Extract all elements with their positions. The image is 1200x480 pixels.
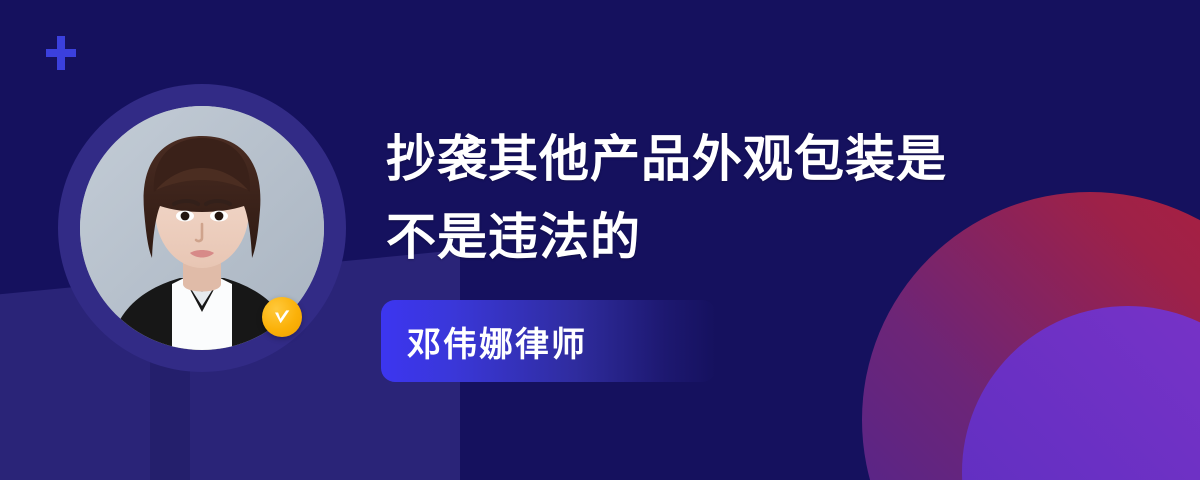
lawyer-name-badge[interactable]: 邓伟娜律师 — [381, 300, 716, 382]
lawyer-qa-banner: 抄袭其他产品外观包装是 不是违法的 邓伟娜律师 — [0, 0, 1200, 480]
plus-icon — [46, 36, 76, 70]
avatar[interactable] — [58, 84, 346, 372]
page-title: 抄袭其他产品外观包装是 不是违法的 — [386, 120, 1086, 276]
verified-badge-icon — [262, 297, 302, 337]
headline-block: 抄袭其他产品外观包装是 不是违法的 — [386, 120, 1086, 276]
verified-check-glyph — [270, 305, 294, 329]
plus-icon-horizontal-bar — [46, 49, 76, 57]
lawyer-name-label: 邓伟娜律师 — [407, 317, 587, 366]
